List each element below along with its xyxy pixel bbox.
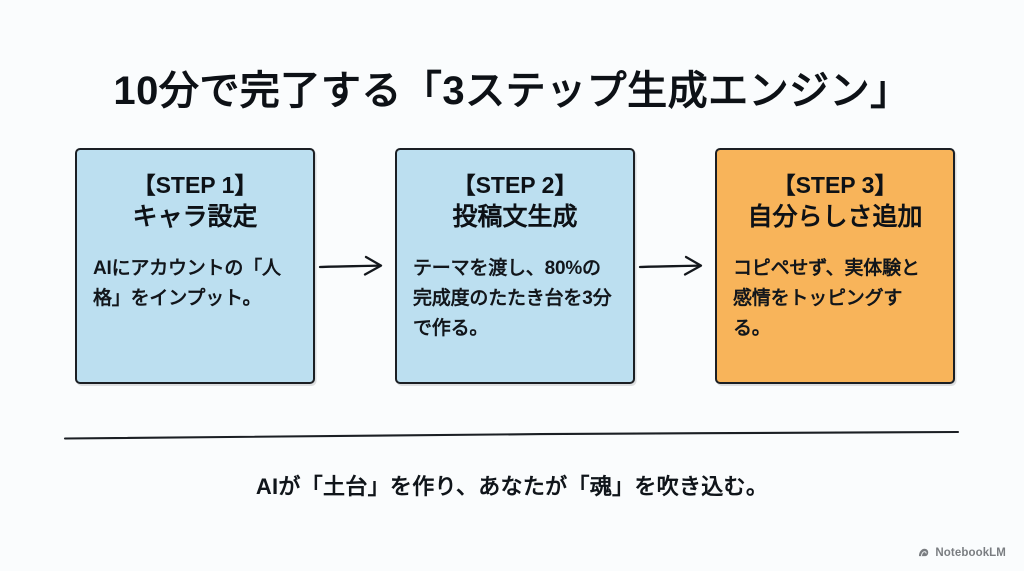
- step-tag: 【STEP 1】: [93, 172, 297, 198]
- step-name: 投稿文生成: [413, 202, 617, 233]
- section-divider: [62, 424, 962, 444]
- watermark-label: NotebookLM: [935, 547, 1006, 559]
- step-name: キャラ設定: [93, 202, 297, 233]
- watermark: NotebookLM: [917, 546, 1006, 559]
- arrow-right-icon: [318, 253, 390, 279]
- step-description: コピペせず、実体験と感情をトッピングする。: [733, 254, 937, 344]
- steps-row: 【STEP 1】 キャラ設定 AIにアカウントの「人格」をインプット。 【STE…: [0, 148, 1024, 386]
- slide-canvas: 10分で完了する「3ステップ生成エンジン」 【STEP 1】 キャラ設定 AIに…: [0, 0, 1024, 571]
- arrow-right-icon: [638, 253, 710, 279]
- page-title: 10分で完了する「3ステップ生成エンジン」: [0, 58, 1024, 116]
- step-description: AIにアカウントの「人格」をインプット。: [93, 254, 297, 314]
- step-card-3[interactable]: 【STEP 3】 自分らしさ追加 コピペせず、実体験と感情をトッピングする。: [715, 148, 955, 384]
- step-tag: 【STEP 3】: [733, 172, 937, 198]
- step-card-2[interactable]: 【STEP 2】 投稿文生成 テーマを渡し、80%の完成度のたたき台を3分で作る…: [395, 148, 635, 384]
- footer-caption: AIが「土台」を作り、あなたが「魂」を吹き込む。: [0, 469, 1024, 501]
- step-tag: 【STEP 2】: [413, 172, 617, 198]
- step-name: 自分らしさ追加: [733, 202, 937, 233]
- step-card-1[interactable]: 【STEP 1】 キャラ設定 AIにアカウントの「人格」をインプット。: [75, 148, 315, 384]
- notebooklm-icon: [917, 546, 930, 559]
- step-description: テーマを渡し、80%の完成度のたたき台を3分で作る。: [413, 254, 617, 344]
